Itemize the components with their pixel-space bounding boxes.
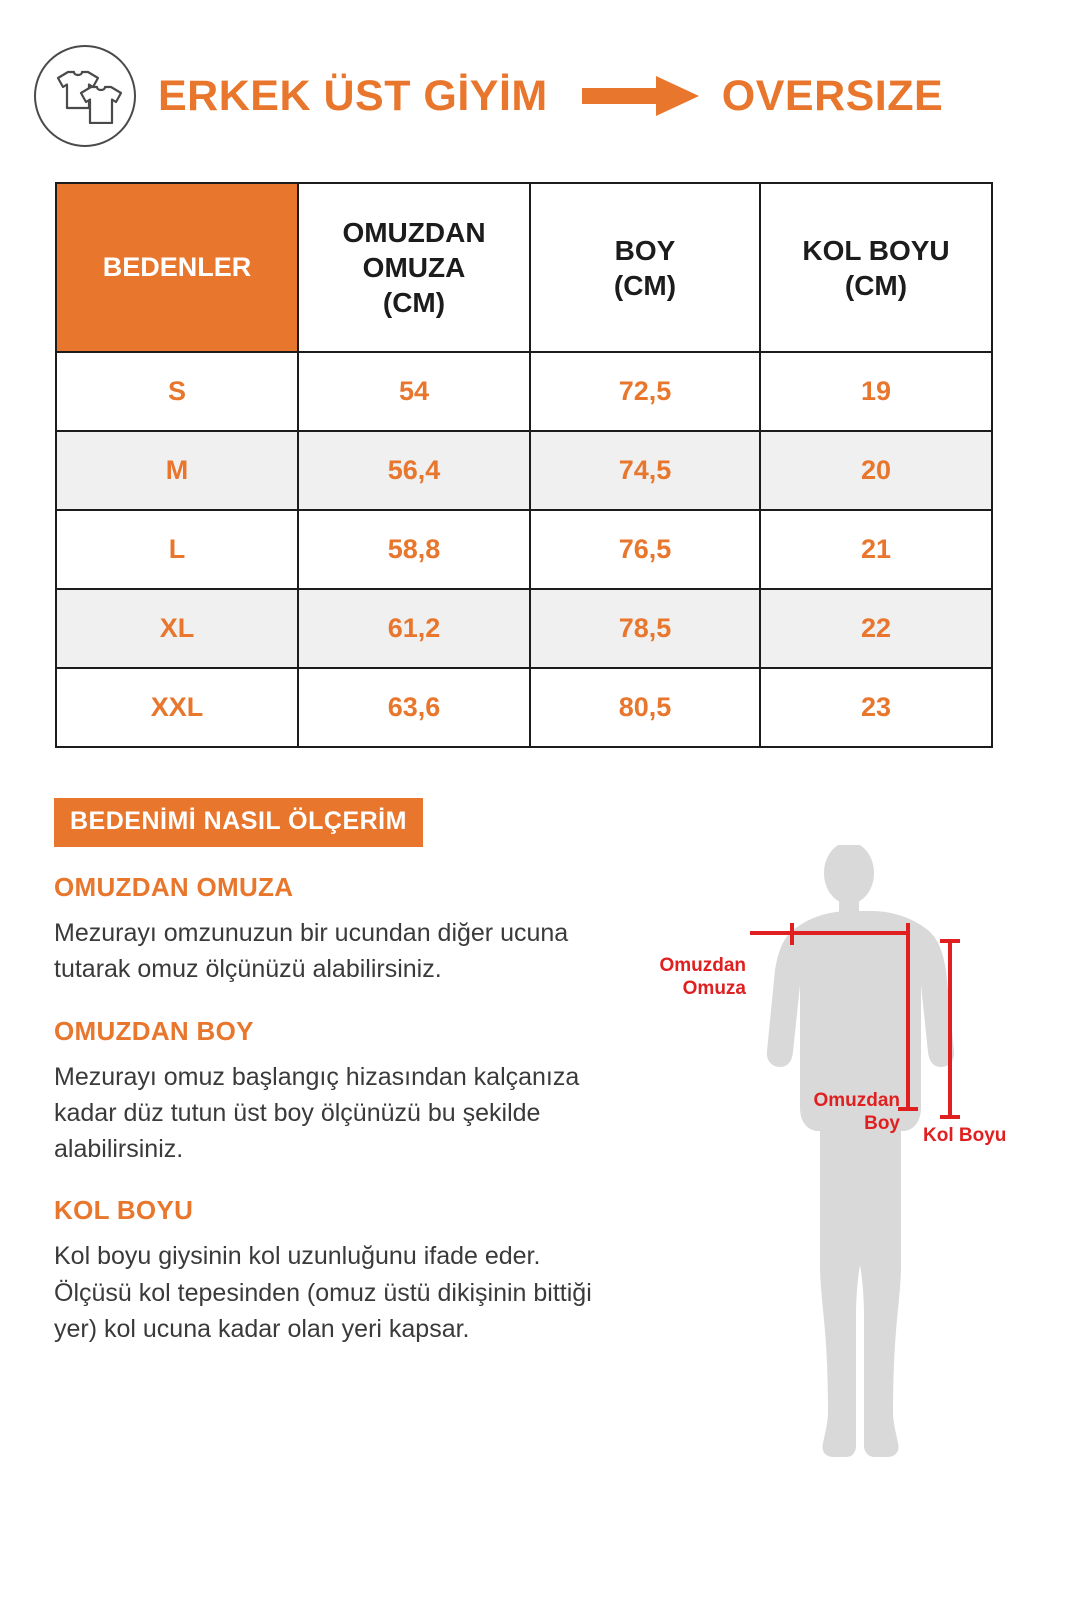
- cell-shoulder: 56,4: [298, 431, 530, 510]
- cell-shoulder: 54: [298, 352, 530, 431]
- cell-length: 76,5: [530, 510, 760, 589]
- header-subtitle: OVERSIZE: [722, 72, 943, 121]
- table-row: S 54 72,5 19: [56, 352, 992, 431]
- measurement-figure: Omuzdan Omuza Omuzdan Boy Kol Boyu: [620, 845, 1060, 1465]
- cell-sleeve: 19: [760, 352, 992, 431]
- col-header-sleeve-line2: (CM): [761, 268, 991, 303]
- cell-sleeve: 20: [760, 431, 992, 510]
- col-header-sizes-line1: BEDENLER: [57, 251, 297, 285]
- size-chart-table: BEDENLER OMUZDAN OMUZA (CM) BOY (CM) KOL…: [55, 182, 993, 748]
- col-header-shoulder: OMUZDAN OMUZA (CM): [298, 183, 530, 352]
- label-shoulder-to-length-line1: Omuzdan: [760, 1090, 900, 1113]
- howto-sections: OMUZDAN OMUZA Mezurayı omzunuzun bir ucu…: [54, 872, 614, 1347]
- label-sleeve-length: Kol Boyu: [923, 1125, 1006, 1148]
- howto-title-shoulder: OMUZDAN OMUZA: [54, 872, 614, 903]
- header-title: ERKEK ÜST GİYİM: [158, 72, 548, 121]
- howto-badge: BEDENİMİ NASIL ÖLÇERİM: [54, 798, 423, 847]
- cell-shoulder: 61,2: [298, 589, 530, 668]
- size-chart-head: BEDENLER OMUZDAN OMUZA (CM) BOY (CM) KOL…: [56, 183, 992, 352]
- col-header-sizes: BEDENLER: [56, 183, 298, 352]
- col-header-sleeve: KOL BOYU (CM): [760, 183, 992, 352]
- howto-title-sleeve: KOL BOYU: [54, 1195, 614, 1226]
- table-row: L 58,8 76,5 21: [56, 510, 992, 589]
- col-header-shoulder-line3: (CM): [299, 285, 529, 320]
- label-shoulder-to-shoulder-line2: Omuza: [614, 978, 746, 1001]
- cell-shoulder: 63,6: [298, 668, 530, 747]
- table-header-row: BEDENLER OMUZDAN OMUZA (CM) BOY (CM) KOL…: [56, 183, 992, 352]
- cell-sleeve: 22: [760, 589, 992, 668]
- cell-size: M: [56, 431, 298, 510]
- right-arrow-icon: [582, 75, 700, 117]
- size-chart-body: S 54 72,5 19 M 56,4 74,5 20 L 58,8 76,5 …: [56, 352, 992, 747]
- cell-size: S: [56, 352, 298, 431]
- col-header-shoulder-line1: OMUZDAN: [299, 215, 529, 250]
- tshirt-logo: [34, 45, 136, 147]
- col-header-shoulder-line2: OMUZA: [299, 250, 529, 285]
- howto-text-length: Mezurayı omuz başlangıç hizasından kalça…: [54, 1059, 614, 1168]
- table-row: XXL 63,6 80,5 23: [56, 668, 992, 747]
- howto-text-shoulder: Mezurayı omzunuzun bir ucundan diğer ucu…: [54, 915, 614, 988]
- howto-text-sleeve: Kol boyu giysinin kol uzunluğunu ifade e…: [54, 1238, 614, 1347]
- col-header-sleeve-line1: KOL BOYU: [761, 233, 991, 268]
- col-header-length-line1: BOY: [531, 233, 759, 268]
- label-shoulder-to-length: Omuzdan Boy: [760, 1090, 900, 1136]
- cell-size: L: [56, 510, 298, 589]
- cell-sleeve: 23: [760, 668, 992, 747]
- label-shoulder-to-shoulder: Omuzdan Omuza: [614, 955, 746, 1001]
- col-header-length-line2: (CM): [531, 268, 759, 303]
- two-tshirts-icon: [48, 68, 122, 124]
- cell-sleeve: 21: [760, 510, 992, 589]
- cell-size: XL: [56, 589, 298, 668]
- table-row: XL 61,2 78,5 22: [56, 589, 992, 668]
- cell-length: 80,5: [530, 668, 760, 747]
- cell-length: 78,5: [530, 589, 760, 668]
- howto-title-length: OMUZDAN BOY: [54, 1016, 614, 1047]
- label-shoulder-to-shoulder-line1: Omuzdan: [614, 955, 746, 978]
- cell-shoulder: 58,8: [298, 510, 530, 589]
- label-shoulder-to-length-line2: Boy: [760, 1113, 900, 1136]
- cell-length: 74,5: [530, 431, 760, 510]
- body-silhouette-diagram: [620, 845, 1060, 1465]
- page-header: ERKEK ÜST GİYİM OVERSIZE: [0, 46, 1080, 146]
- arrow-container: [582, 75, 700, 117]
- cell-size: XXL: [56, 668, 298, 747]
- table-row: M 56,4 74,5 20: [56, 431, 992, 510]
- cell-length: 72,5: [530, 352, 760, 431]
- col-header-length: BOY (CM): [530, 183, 760, 352]
